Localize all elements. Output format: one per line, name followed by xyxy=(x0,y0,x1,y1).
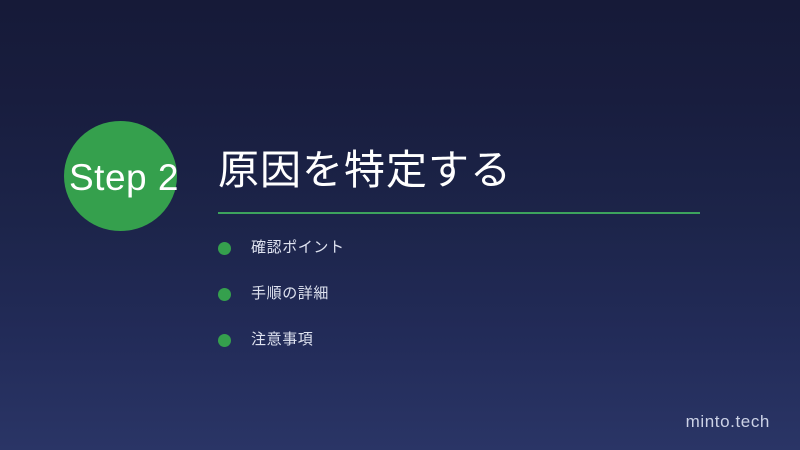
bullet-item-label: 手順の詳細 xyxy=(251,284,329,304)
list-item: 手順の詳細 xyxy=(218,278,688,310)
slide-title: 原因を特定する xyxy=(218,143,708,197)
footer-watermark: minto.tech xyxy=(686,412,770,432)
bullet-dot-icon xyxy=(218,334,231,347)
bullet-list: 確認ポイント 手順の詳細 注意事項 xyxy=(218,232,688,370)
list-item: 確認ポイント xyxy=(218,232,688,264)
bullet-item-label: 注意事項 xyxy=(251,330,313,350)
title-divider xyxy=(218,212,700,214)
bullet-dot-icon xyxy=(218,242,231,255)
bullet-dot-icon xyxy=(218,288,231,301)
slide-canvas: Step 2 原因を特定する 確認ポイント 手順の詳細 注意事項 minto.t… xyxy=(0,0,800,450)
list-item: 注意事項 xyxy=(218,324,688,356)
title-block: 原因を特定する xyxy=(218,143,708,197)
bullet-item-label: 確認ポイント xyxy=(251,238,345,258)
step-badge-label: Step 2 xyxy=(44,155,204,201)
